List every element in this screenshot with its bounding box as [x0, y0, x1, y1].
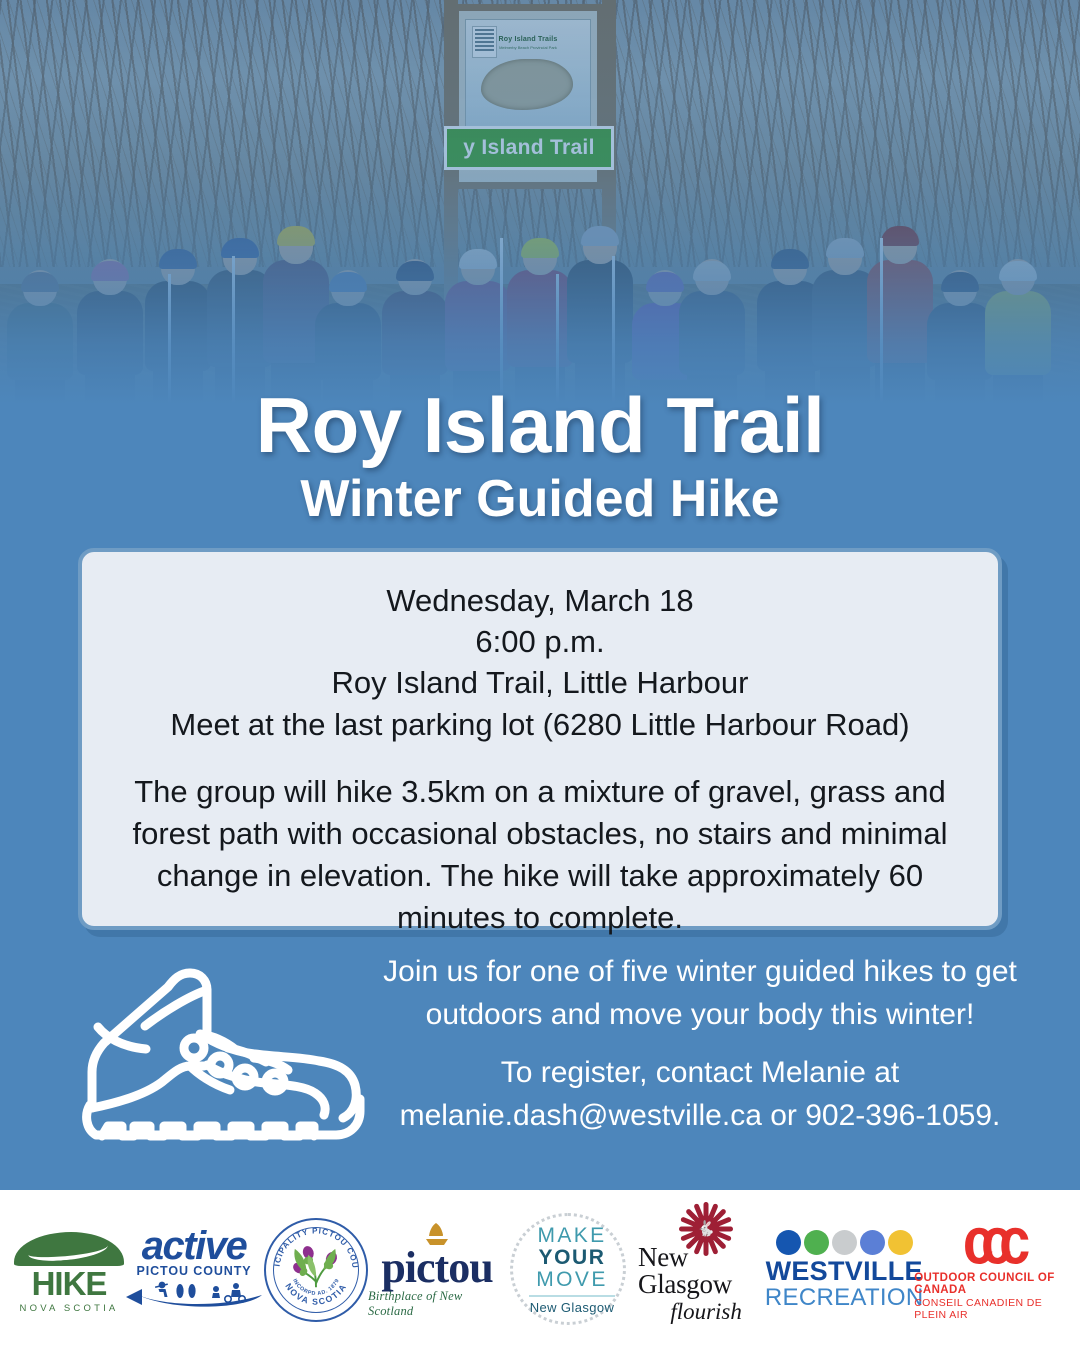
- westville-icon-row: [776, 1230, 913, 1255]
- cta-line-2: To register, contact Melanie at melanie.…: [376, 1052, 1024, 1137]
- hike-wordmark: HIKE: [32, 1267, 107, 1300]
- page-subtitle: Winter Guided Hike: [0, 470, 1080, 530]
- skating-icon: [860, 1230, 885, 1255]
- logo-active-pictou-county: active PICTOU COUNTY: [124, 1215, 264, 1325]
- logo-municipality-pictou-county: MUNICIPALITY PICTOU COUNTY NOVA SCOTIA I…: [264, 1215, 368, 1325]
- svg-text:INCORPD AD. 1879: INCORPD AD. 1879: [291, 1278, 341, 1297]
- active-wordmark: active: [142, 1227, 246, 1265]
- occ-monogram: ccc: [963, 1215, 1017, 1268]
- poster-titles: Roy Island Trail Winter Guided Hike: [0, 386, 1080, 530]
- canoe-icon: [124, 1279, 264, 1313]
- mym-line-1: MAKE: [506, 1225, 638, 1247]
- hiking-boot-icon: [72, 955, 382, 1165]
- events-icon: [888, 1230, 913, 1255]
- westville-wordmark: WESTVILLE: [766, 1258, 923, 1285]
- event-time: 6:00 p.m.: [116, 621, 964, 662]
- logo-pictou: pictou Birthplace of New Scotland: [368, 1215, 506, 1325]
- playground-icon: [776, 1230, 801, 1255]
- mym-divider: [529, 1295, 615, 1297]
- event-date: Wednesday, March 18: [116, 580, 964, 621]
- hike-hill-icon: [14, 1226, 124, 1266]
- arena-icon: [832, 1230, 857, 1255]
- lion-sunburst-icon: 🐇: [679, 1215, 733, 1242]
- logo-outdoor-council-of-canada: ccc OUTDOOR COUNCIL OF CANADA CONSEIL CA…: [914, 1215, 1066, 1325]
- photo-fade-overlay: [0, 0, 1080, 430]
- occ-name-fr: CONSEIL CANADIEN DE PLEIN AIR: [914, 1297, 1066, 1321]
- hero-photo: Roy Island Trails Melmerby Beach Provinc…: [0, 0, 1080, 430]
- logo-make-your-move: MAKE YOUR MOVE New Glasgow: [506, 1215, 638, 1325]
- westville-subtitle: RECREATION: [765, 1285, 924, 1310]
- cta-line-1: Join us for one of five winter guided hi…: [376, 951, 1024, 1036]
- event-meeting-point: Meet at the last parking lot (6280 Littl…: [116, 704, 964, 745]
- logo-hike-nova-scotia: HIKE NOVA SCOTIA: [14, 1215, 124, 1325]
- cta-text-block: Join us for one of five winter guided hi…: [376, 951, 1024, 1137]
- hike-subtitle: NOVA SCOTIA: [20, 1303, 119, 1314]
- sailing-ship-icon: [420, 1221, 454, 1247]
- mym-text-block: MAKE YOUR MOVE New Glasgow: [506, 1225, 638, 1315]
- pictou-wordmark: pictou: [381, 1248, 492, 1288]
- park-icon: [804, 1230, 829, 1255]
- sponsor-logo-bar: HIKE NOVA SCOTIA active PICTOU COUNTY: [0, 1190, 1080, 1350]
- card-spacer: [116, 745, 964, 771]
- page-title: Roy Island Trail: [0, 386, 1080, 464]
- mym-line-2: YOUR: [506, 1247, 638, 1269]
- logo-westville-recreation: WESTVILLE RECREATION: [774, 1215, 914, 1325]
- event-description: The group will hike 3.5km on a mixture o…: [116, 771, 964, 940]
- mym-line-3: MOVE: [506, 1269, 638, 1291]
- new-glasgow-tagline: flourish: [670, 1299, 742, 1325]
- mym-subtitle: New Glasgow: [506, 1300, 638, 1315]
- call-to-action-row: Join us for one of five winter guided hi…: [0, 945, 1080, 1175]
- lion-glyph: 🐇: [697, 1221, 716, 1236]
- svg-text:NOVA SCOTIA: NOVA SCOTIA: [283, 1281, 348, 1306]
- event-location: Roy Island Trail, Little Harbour: [116, 662, 964, 703]
- municipal-seal-icon: MUNICIPALITY PICTOU COUNTY NOVA SCOTIA I…: [264, 1218, 368, 1322]
- pictou-tagline: Birthplace of New Scotland: [368, 1289, 506, 1319]
- logo-new-glasgow-flourish: 🐇 New Glasgow flourish: [638, 1215, 774, 1325]
- active-subtitle: PICTOU COUNTY: [137, 1264, 252, 1278]
- event-details-card: Wednesday, March 18 6:00 p.m. Roy Island…: [78, 548, 1002, 930]
- poster-canvas: Roy Island Trails Melmerby Beach Provinc…: [0, 0, 1080, 1350]
- svg-text:MUNICIPALITY PICTOU COUNTY: MUNICIPALITY PICTOU COUNTY: [266, 1220, 360, 1269]
